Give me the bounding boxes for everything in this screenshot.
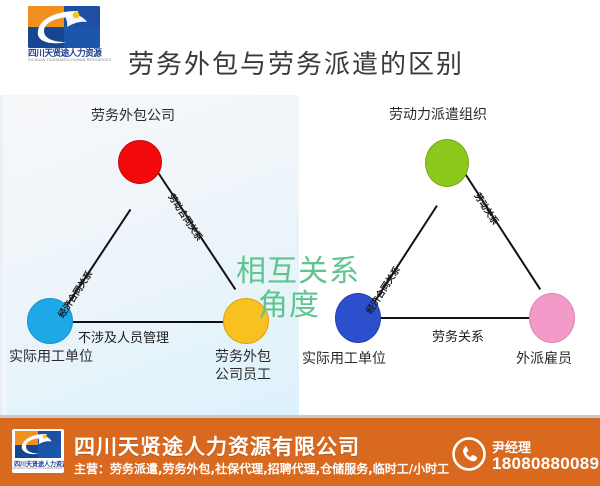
page-title: 劳务外包与劳务派遣的区别: [128, 44, 528, 81]
logo-company-cn: 四川天贤途人力资源: [28, 48, 97, 58]
footer-logo-company-en: SICHUAN TIANXIANTU HUMAN RESOURCES: [12, 466, 64, 470]
logo-swoosh-icon: [32, 9, 96, 45]
node-outsourcing-company: [118, 140, 162, 184]
center-note-line1: 相互关系: [236, 254, 360, 289]
edge-service-relation: [364, 317, 551, 319]
edge-no-personnel-management: [56, 321, 246, 323]
header: 四川天贤途人力资源 SICHUAN TIANXIANTU HUMAN RESOU…: [0, 0, 600, 95]
edge-label-service-relation: 劳务关系: [432, 326, 484, 345]
edge-label-economic-contract-2: 经济合同关系: [363, 264, 403, 316]
edge-label-labor-contract: 劳动合同关系: [166, 191, 207, 243]
logo-mark: [28, 6, 100, 48]
footer-top-divider: [0, 415, 600, 418]
edge-label-economic-contract: 经济合同关系: [55, 268, 96, 320]
poster-root: 四川天贤途人力资源 SICHUAN TIANXIANTU HUMAN RESOU…: [0, 0, 600, 486]
center-note: 相互关系 角度: [236, 255, 364, 323]
footer-phone-number: 18080880089: [492, 454, 599, 474]
node-label-actual-employer-2: 实际用工单位: [302, 351, 386, 368]
node-label-outsourcing-staff-line2: 公司员工: [215, 367, 271, 384]
edge-label-labor-relation: 劳动关系: [472, 190, 503, 227]
footer-services: 主营：劳务派遣,劳务外包,社保代理,招聘代理,仓储服务,临时工/小时工: [74, 460, 449, 477]
node-label-dispatch-organization: 劳动力派遣组织: [389, 107, 487, 124]
footer-company-logo-icon: 四川天贤途人力资源 SICHUAN TIANXIANTU HUMAN RESOU…: [12, 429, 64, 473]
company-logo-icon: 四川天贤途人力资源 SICHUAN TIANXIANTU HUMAN RESOU…: [28, 6, 100, 62]
node-dispatched-employee: [529, 293, 575, 343]
node-label-outsourcing-company: 劳务外包公司: [91, 108, 175, 125]
footer-logo-swoosh-icon: [17, 433, 59, 456]
footer-banner: 四川天贤途人力资源 SICHUAN TIANXIANTU HUMAN RESOU…: [0, 415, 600, 486]
edge-label-no-personnel-management: 不涉及人员管理: [78, 327, 169, 346]
phone-icon: [452, 437, 486, 471]
edge-labor-relation: [463, 171, 541, 290]
node-label-dispatched-employee: 外派雇员: [516, 351, 572, 368]
node-label-outsourcing-staff-line1: 劳务外包: [215, 349, 271, 366]
footer-company-name: 四川天贤途人力资源有限公司: [74, 431, 360, 461]
node-label-actual-employer: 实际用工单位: [9, 349, 93, 366]
footer-logo-mark: [15, 431, 61, 458]
center-note-line2: 角度: [258, 289, 364, 323]
logo-company-en: SICHUAN TIANXIANTU HUMAN RESOURCES: [28, 58, 100, 62]
diagram-band: 劳务外包公司 实际用工单位 劳务外包 公司员工 经济合同关系 劳动合同关系 不涉…: [0, 95, 600, 415]
node-dispatch-organization: [425, 139, 469, 187]
